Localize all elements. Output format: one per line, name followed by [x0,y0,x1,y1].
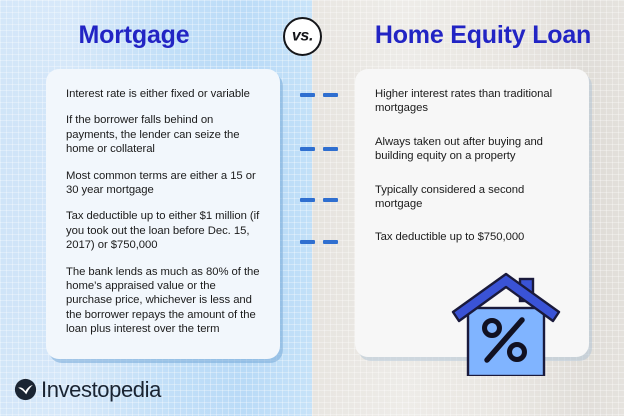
list-item: The bank lends as much as 80% of the hom… [66,265,260,337]
list-item: Always taken out after buying and buildi… [375,135,569,164]
dash-separator [300,198,344,202]
investopedia-logo: Investopedia [14,378,161,401]
header: Mortgage vs. Home Equity Loan [0,0,624,68]
dash-separator [300,147,344,151]
list-item: Tax deductible up to $750,000 [375,230,569,244]
page-title-left: Mortgage [0,20,268,50]
mortgage-card: Interest rate is either fixed or variabl… [46,69,280,359]
versus-label: vs. [292,27,313,45]
infographic-canvas: Mortgage vs. Home Equity Loan Interest r… [0,0,624,416]
dash-separator [300,93,344,97]
investopedia-mark-icon [14,378,37,401]
list-item: Interest rate is either fixed or variabl… [66,87,260,101]
versus-badge: vs. [283,17,322,56]
investopedia-wordmark: Investopedia [41,378,161,401]
list-item: Tax deductible up to either $1 million (… [66,209,260,252]
list-item: Typically considered a second mortgage [375,183,569,212]
list-item: Higher interest rates than traditional m… [375,87,569,116]
list-item: If the borrower falls behind on payments… [66,113,260,156]
list-item: Most common terms are either a 15 or 30 … [66,169,260,198]
house-percent-icon [447,268,565,376]
page-title-right: Home Equity Loan [342,20,624,50]
dash-separator [300,240,344,244]
